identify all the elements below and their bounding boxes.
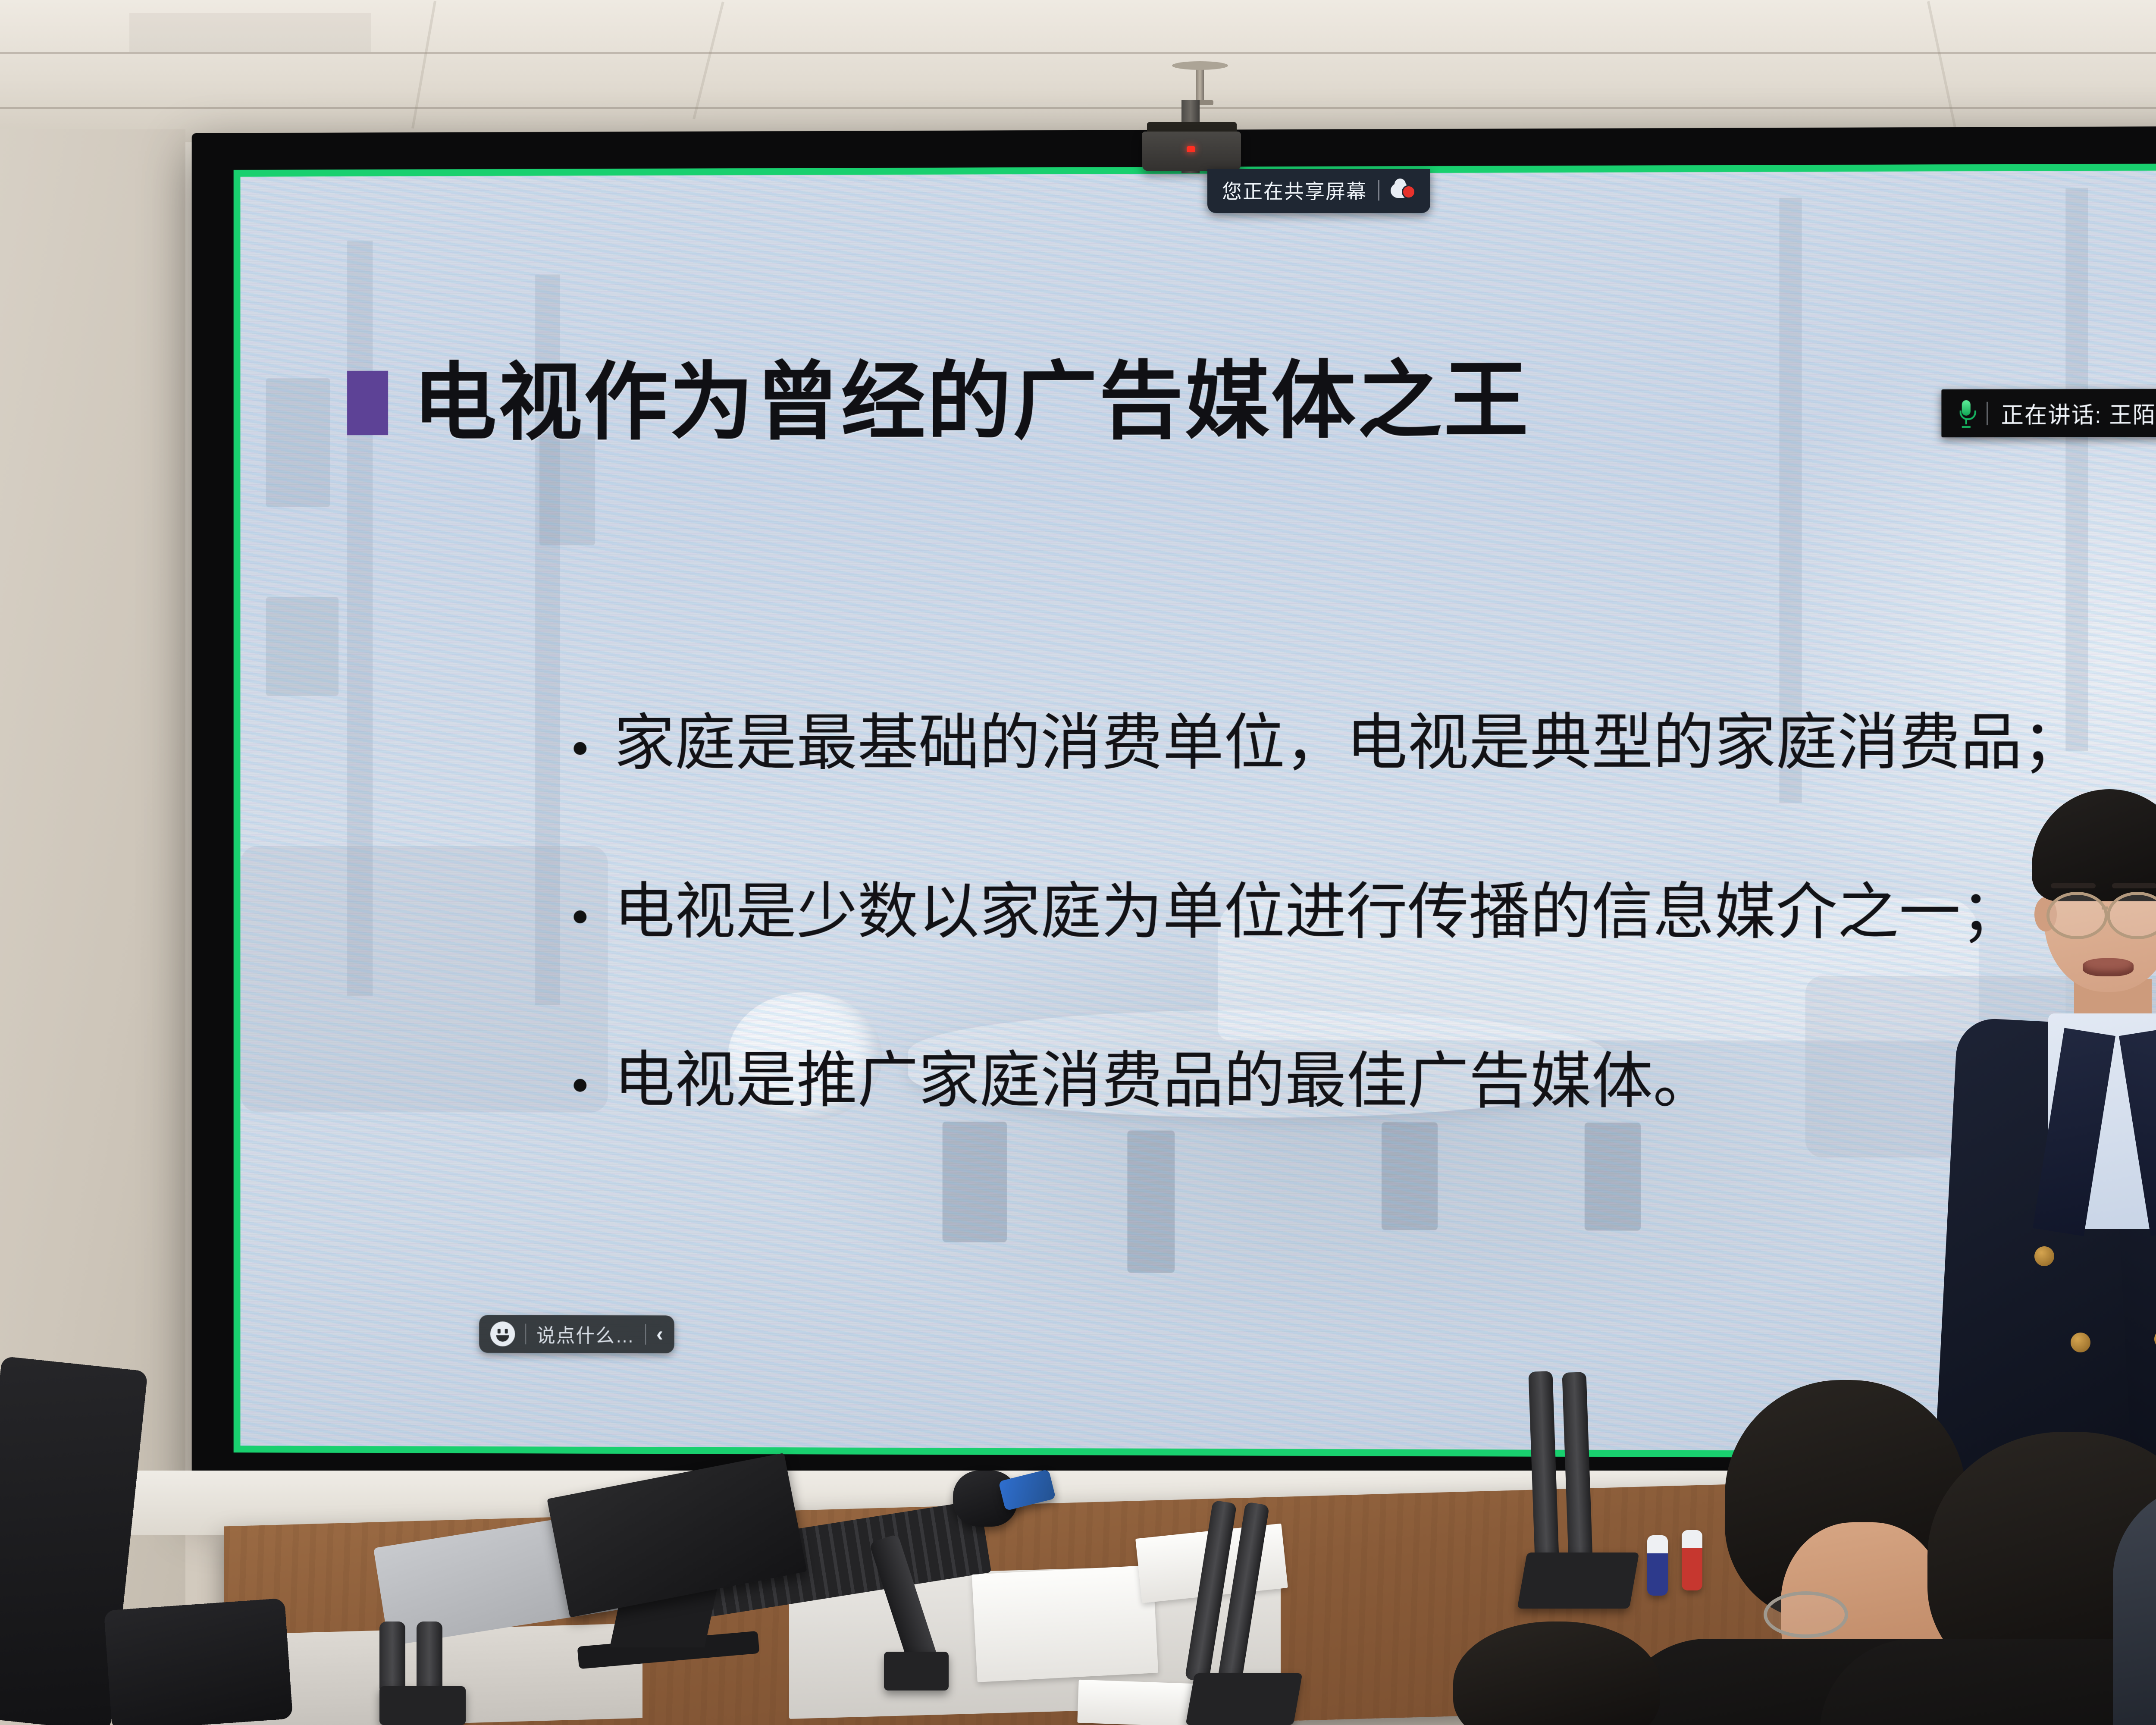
- conference-microphone: [1190, 1501, 1332, 1725]
- sprinkler-head: [1196, 65, 1204, 103]
- presenter-eyebrow: [2112, 883, 2156, 888]
- comment-input-bar[interactable]: 说点什么… ‹: [479, 1315, 674, 1353]
- ceiling-camera: [1142, 132, 1241, 171]
- presenter-mouth: [2083, 958, 2134, 976]
- divider: [1987, 401, 1988, 425]
- screen-share-banner: 您正在共享屏幕: [1207, 169, 1430, 213]
- divider: [1378, 180, 1379, 201]
- wireless-microphone: [953, 1462, 1056, 1548]
- bullet-dot-icon: [573, 910, 586, 923]
- audience-member: [1401, 1621, 1729, 1725]
- chair-left-seat: [104, 1598, 293, 1725]
- title-bullet-marker: [347, 371, 388, 436]
- slide-title: 电视作为曾经的广告媒体之王: [413, 358, 1530, 445]
- eyeglasses-lens: [2046, 892, 2108, 939]
- jacket-button: [2034, 1246, 2054, 1266]
- eyeglasses-bridge: [2102, 906, 2108, 910]
- bullet-dot-icon: [573, 1079, 586, 1091]
- shared-screen[interactable]: 电视作为曾经的广告媒体之王 家庭是最基础的消费单位，电视是典型的家庭消费品； 电…: [234, 163, 2156, 1459]
- microphone-icon: [1959, 399, 1974, 427]
- presentation-slide: 电视作为曾经的广告媒体之王 家庭是最基础的消费单位，电视是典型的家庭消费品； 电…: [240, 170, 2156, 1452]
- slide-title-row: 电视作为曾经的广告媒体之王: [347, 358, 1530, 445]
- paper-sheet: [972, 1565, 1159, 1682]
- smiley-face-icon[interactable]: [490, 1321, 515, 1346]
- slide-bullet-item: 电视是推广家庭消费品的最佳广告媒体。: [573, 1041, 2084, 1121]
- bullet-dot-icon: [573, 742, 586, 755]
- slide-bullet-item: 电视是少数以家庭为单位进行传播的信息媒介之一；: [573, 872, 2084, 951]
- audience-member: [2147, 1320, 2156, 1725]
- active-speaker-badge: 正在讲话: 王陌潇-四川大学;: [1942, 389, 2156, 437]
- presenter-eyebrow: [2051, 883, 2096, 888]
- divider: [645, 1324, 646, 1345]
- slide-bullet-item: 家庭是最基础的消费单位，电视是典型的家庭消费品；: [573, 703, 2084, 782]
- active-speaker-label: 正在讲话: 王陌潇-四川大学;: [2001, 396, 2156, 430]
- bullet-text: 电视是少数以家庭为单位进行传播的信息媒介之一；: [614, 872, 2022, 951]
- stop-sharing-icon[interactable]: [1391, 181, 1416, 200]
- handheld-microphone: [884, 1535, 996, 1725]
- jacket-button: [2071, 1333, 2090, 1352]
- marker-blue: [1647, 1535, 1668, 1596]
- camera-indicator-led: [1187, 146, 1195, 152]
- screen-share-label: 您正在共享屏幕: [1222, 176, 1367, 204]
- ceiling: [0, 0, 2156, 142]
- bullet-text: 家庭是最基础的消费单位，电视是典型的家庭消费品；: [614, 703, 2084, 782]
- bullet-text: 电视是推广家庭消费品的最佳广告媒体。: [614, 1041, 1714, 1121]
- wall-display: 电视作为曾经的广告媒体之王 家庭是最基础的消费单位，电视是典型的家庭消费品； 电…: [192, 125, 2156, 1509]
- divider: [525, 1324, 526, 1344]
- chevron-left-icon[interactable]: ‹: [656, 1324, 663, 1345]
- slide-bullet-list: 家庭是最基础的消费单位，电视是典型的家庭消费品； 电视是少数以家庭为单位进行传播…: [573, 703, 2084, 1212]
- comment-input-placeholder[interactable]: 说点什么…: [536, 1320, 635, 1348]
- microphone-base-left: [379, 1621, 517, 1725]
- conference-room-scene: 电视作为曾经的广告媒体之王 家庭是最基础的消费单位，电视是典型的家庭消费品； 电…: [0, 0, 2156, 1725]
- conference-microphone: [1522, 1371, 1664, 1613]
